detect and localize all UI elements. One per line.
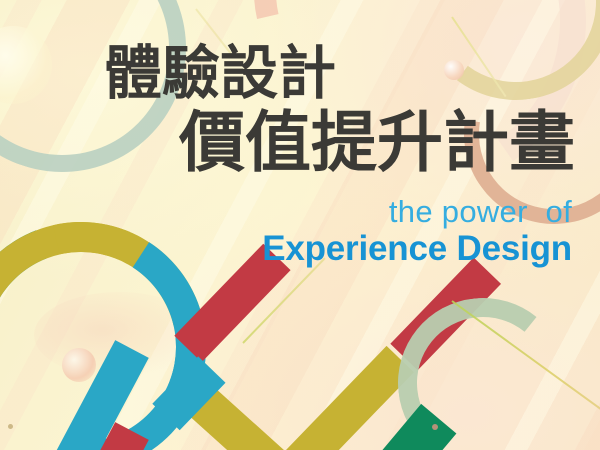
headline-cjk-line-2: 價值提升計畫 [179,110,575,176]
subtitle-line-the-power-of: the power of [262,196,572,227]
subtitle-english-block: the power of Experience Design [262,196,572,266]
headline-cjk-line-1: 體驗設計 [104,44,336,102]
poster-canvas: 體驗設計 價值提升計畫 the power of Experience Desi… [0,0,600,450]
subtitle-line-experience-design: Experience Design [262,231,572,266]
text-layer: 體驗設計 價值提升計畫 the power of Experience Desi… [0,0,600,450]
